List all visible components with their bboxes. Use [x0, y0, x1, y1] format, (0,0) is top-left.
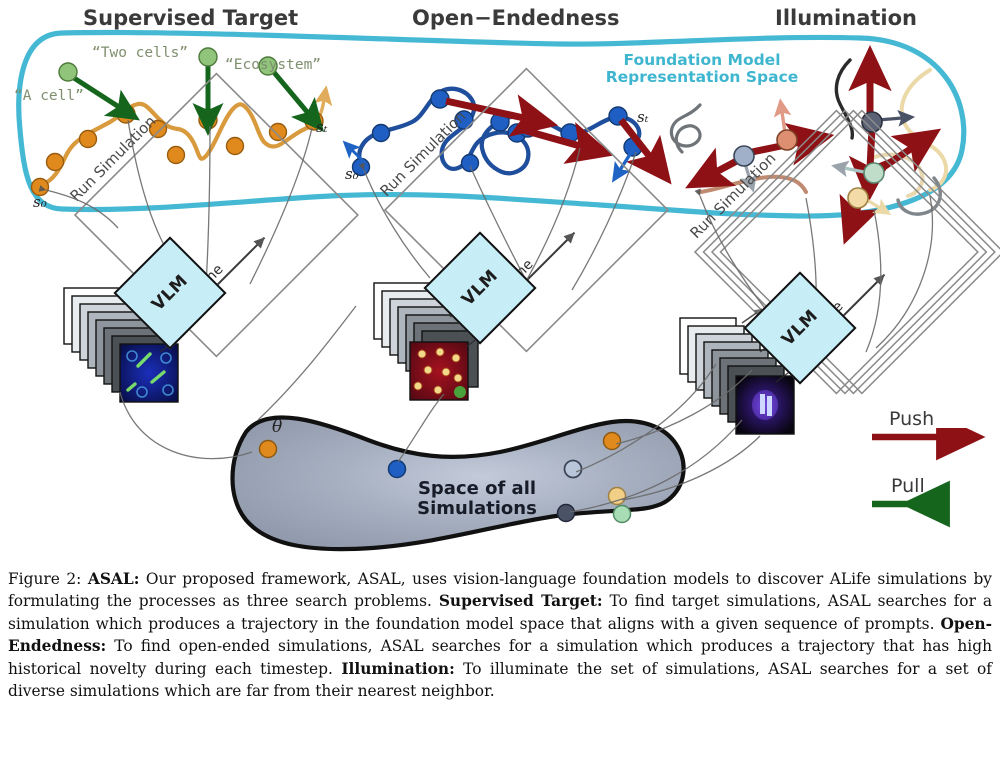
simulation-thumbnail-supervised [120, 344, 178, 402]
blob-label-line1: Space of all [382, 479, 572, 499]
foundation-model-space-label: Foundation Model Representation Space [597, 52, 807, 87]
space-of-all-simulations-label: Space of all Simulations [382, 479, 572, 519]
state-label-open-start: s₀ [345, 165, 359, 183]
state-label-supervised-start: s₀ [33, 193, 47, 211]
asal-framework-figure: Run Simulation Time [0, 0, 1000, 560]
section-header-supervised-target: Supervised Target [83, 6, 298, 30]
section-header-illumination: Illumination [775, 6, 917, 30]
push-arrows-open-endedness [352, 101, 650, 170]
vlm-box-supervised: VLM [130, 253, 210, 333]
pipeline-label: Run Simulation [67, 112, 160, 205]
simulation-thumbnail-illumination [736, 376, 794, 434]
caption-heading-illumination: Illumination: [341, 660, 454, 678]
caption-heading-supervised: Supervised Target: [439, 592, 603, 610]
fm-space-label-line2: Representation Space [597, 69, 807, 86]
section-header-open-endedness: Open−Endedness [412, 6, 619, 30]
fm-space-label-line1: Foundation Model [597, 52, 807, 69]
vlm-label: VLM [148, 271, 192, 315]
caption-figure-number: Figure 2: [8, 570, 81, 588]
theta-parameter-label: θ [272, 417, 282, 437]
prompt-label-two-cells: “Two cells” [92, 45, 188, 61]
prompt-label-ecosystem: “Ecosystem” [225, 57, 321, 73]
blob-label-line2: Simulations [382, 499, 572, 519]
open-endedness-trajectory [352, 89, 650, 176]
figure-caption: Figure 2: ASAL: Our proposed framework, … [8, 568, 992, 703]
vlm-box-open-endedness: VLM [440, 248, 520, 328]
vlm-label: VLM [778, 306, 822, 350]
legend-arrows [866, 428, 996, 538]
prompt-label-a-cell: “A cell” [14, 88, 84, 104]
legend-label-push: Push [889, 408, 934, 430]
supervised-trajectory-nodes [32, 105, 324, 196]
caption-title: ASAL: [88, 570, 140, 588]
vlm-box-illumination: VLM [760, 288, 840, 368]
state-label-open-end: sₜ [637, 108, 648, 126]
simulation-thumbnail-open-endedness [410, 342, 468, 400]
svg-text:Run Simulation: Run Simulation [377, 107, 470, 200]
vlm-label: VLM [458, 266, 502, 310]
state-label-supervised-end: sₜ [316, 118, 327, 136]
